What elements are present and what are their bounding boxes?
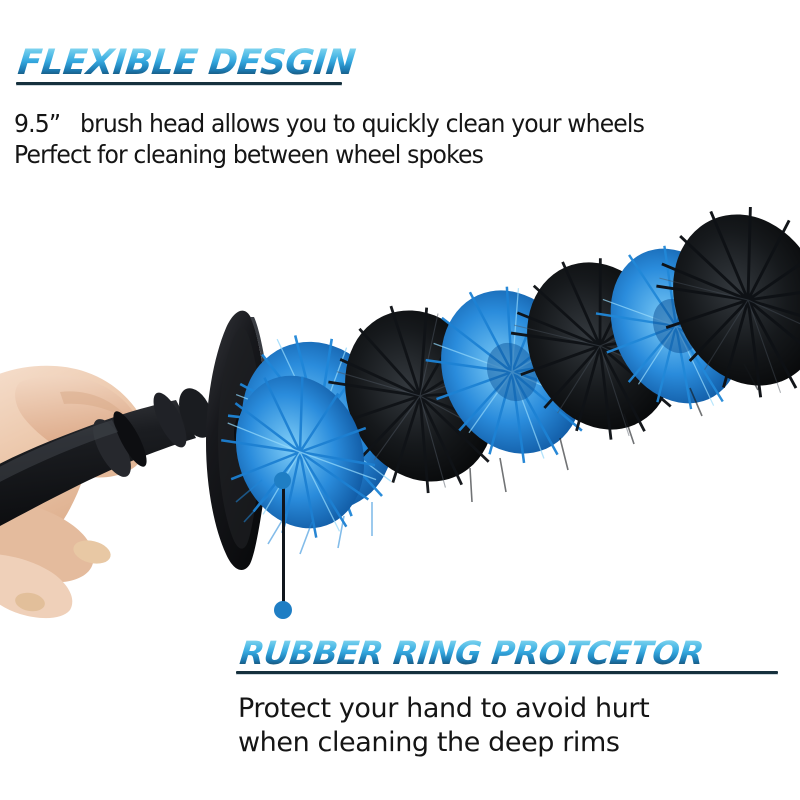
- bottom-body-text: Protect your hand to avoid hurt when cle…: [238, 692, 649, 760]
- bottom-heading: RUBBER RING PROTCETOR: [238, 636, 705, 671]
- product-photo: [0, 150, 800, 620]
- bottom-body-line-1: Protect your hand to avoid hurt: [238, 693, 649, 724]
- brush-illustration: [0, 150, 800, 620]
- top-heading-underline: [16, 82, 342, 85]
- infographic-page: FLEXIBLE DESGIN 9.5” brush head allows y…: [0, 0, 800, 800]
- bottom-body-line-2: when cleaning the deep rims: [238, 727, 620, 758]
- brush-head: [202, 177, 800, 560]
- callout-dot-bottom: [274, 601, 292, 619]
- callout-leader-line: [282, 483, 285, 609]
- bottom-heading-underline: [236, 671, 778, 674]
- top-heading: FLEXIBLE DESGIN: [16, 44, 357, 82]
- top-body-line-1: 9.5” brush head allows you to quickly cl…: [14, 109, 644, 138]
- callout-dot-top: [274, 472, 291, 489]
